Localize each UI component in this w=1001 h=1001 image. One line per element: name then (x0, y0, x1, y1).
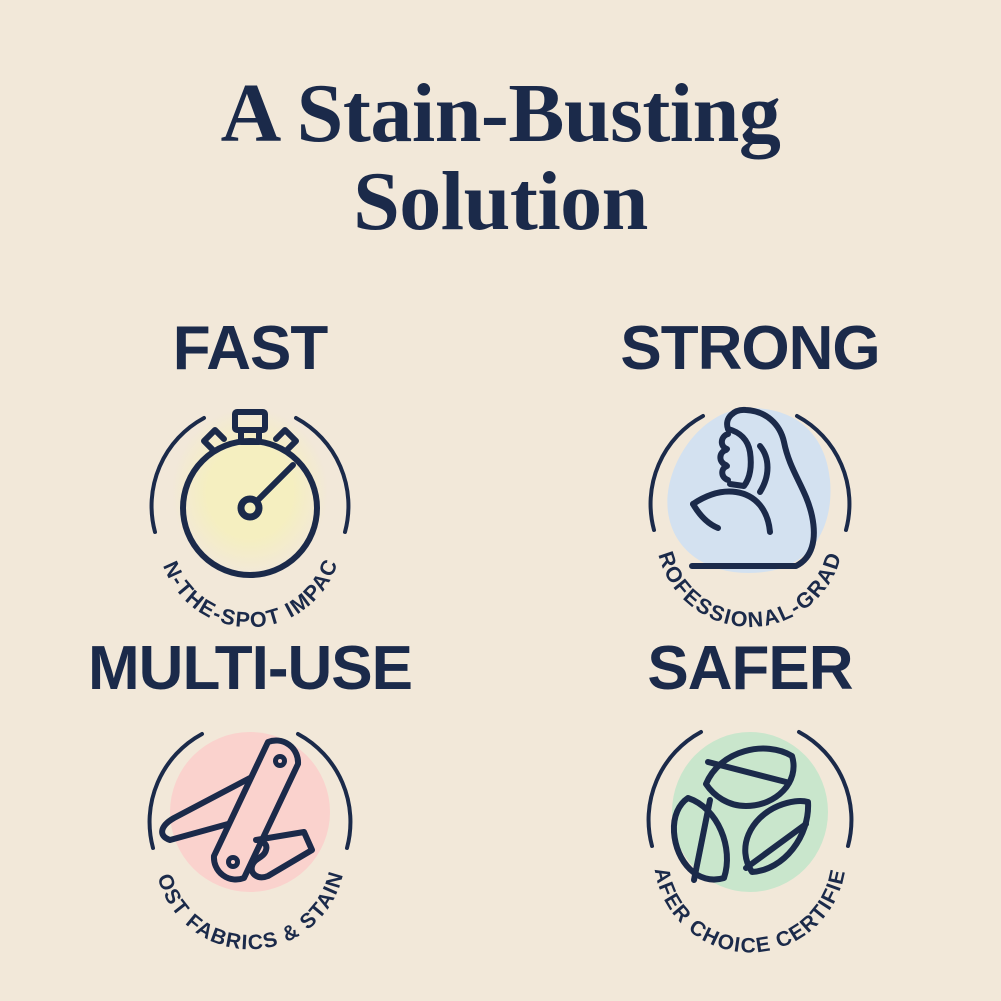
page-title-line-2: Solution (0, 158, 1001, 246)
badge-strong-title: STRONG (500, 318, 1000, 380)
badge-safer-art: SAFER CHOICE CERTIFIED (600, 700, 900, 956)
badge-multi-use: MULTI-USE (0, 638, 500, 958)
page-title: A Stain-Busting Solution (0, 70, 1001, 246)
badge-safer-title: SAFER (500, 638, 1000, 700)
badge-fast: FAST (0, 318, 500, 638)
promo-poster: A Stain-Busting Solution FAST (0, 0, 1001, 1001)
badge-strong-art: PROFESSIONAL-GRADE (600, 380, 900, 636)
badge-fast-art: ON-THE-SPOT IMPACT (100, 380, 400, 636)
badge-fast-title: FAST (0, 318, 500, 380)
badge-multi-use-title: MULTI-USE (0, 638, 500, 700)
badge-safer: SAFER (500, 638, 1000, 958)
badge-multi-use-art: MOST FABRICS & STAINS (100, 700, 400, 956)
benefit-badge-grid: FAST (0, 318, 1001, 978)
badge-strong: STRONG (500, 318, 1000, 638)
page-title-line-1: A Stain-Busting (0, 70, 1001, 158)
